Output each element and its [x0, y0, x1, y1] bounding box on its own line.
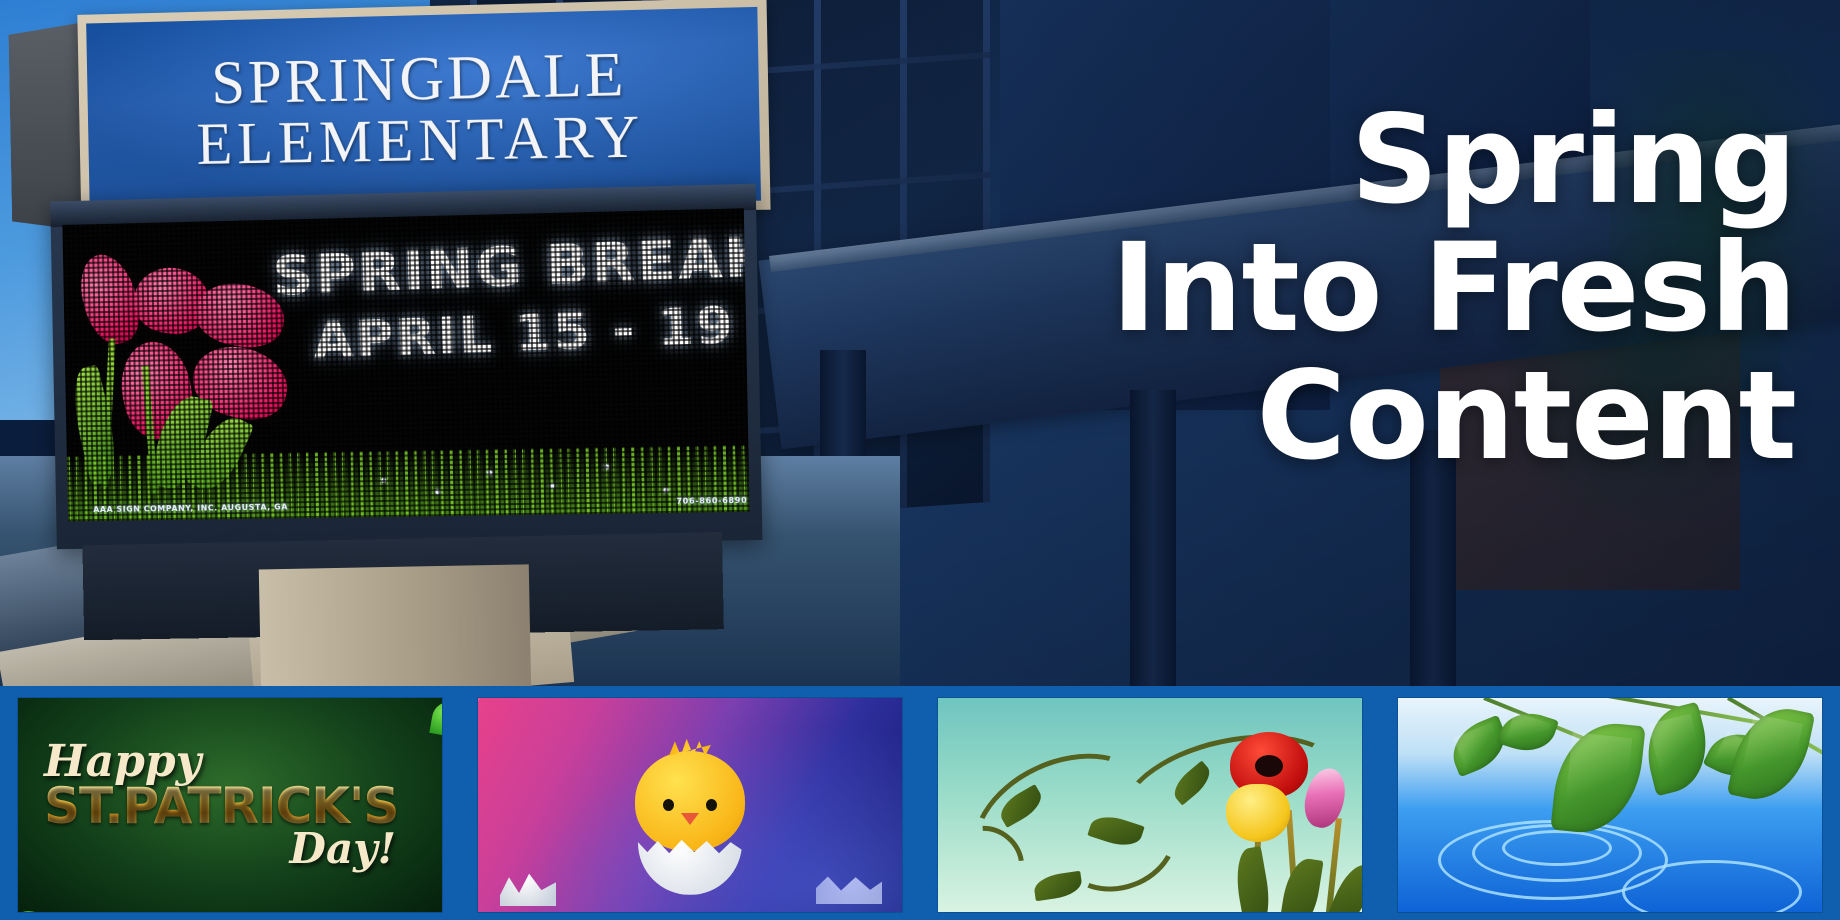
- led-message-line2: APRIL 15 - 19: [312, 300, 735, 366]
- credit-company: AAA SIGN COMPANY, INC. AUGUSTA, GA: [93, 502, 288, 514]
- chick-illustration: [635, 751, 745, 851]
- thumbnail-item[interactable]: Happy ST.PATRICK'S Day!: [0, 686, 460, 920]
- hero-photo: SPRINGDALE ELEMENTARY: [0, 0, 1840, 686]
- headline-line-3: Content: [976, 352, 1796, 480]
- school-name-line2: ELEMENTARY: [196, 108, 645, 173]
- sign-masonry-post: [259, 564, 531, 686]
- stp-line-main: ST.PATRICK'S: [44, 783, 442, 829]
- thumbnail-strip: Happy ST.PATRICK'S Day!: [0, 686, 1840, 920]
- credit-phone: 706-860-6890: [676, 495, 747, 505]
- led-message: SPRING BREAK APRIL 15 - 19: [304, 231, 741, 366]
- headline-line-1: Spring: [976, 96, 1796, 224]
- banner-root: SPRINGDALE ELEMENTARY: [0, 0, 1840, 920]
- led-display-screen: SPRING BREAK APRIL 15 - 19 AAA SIGN COMP…: [62, 208, 749, 521]
- led-message-line1: SPRING BREAK: [272, 230, 750, 304]
- headline-line-2: Into Fresh: [976, 224, 1796, 352]
- egg-fragment-right: [816, 872, 882, 904]
- headline: Spring Into Fresh Content: [976, 96, 1796, 480]
- monument-sign: SPRINGDALE ELEMENTARY: [8, 0, 866, 639]
- egg-fragment-left: [500, 870, 556, 906]
- led-sign-cabinet: SPRING BREAK APRIL 15 - 19 AAA SIGN COMP…: [50, 184, 762, 550]
- thumbnail-item[interactable]: [920, 686, 1380, 920]
- stp-line-day: Day!: [290, 829, 396, 869]
- thumbnail-easter-chick[interactable]: [478, 698, 902, 912]
- thumbnail-item[interactable]: [460, 686, 920, 920]
- thumbnail-leaves-water[interactable]: [1398, 698, 1822, 912]
- thumbnail-st-patricks-day[interactable]: Happy ST.PATRICK'S Day!: [18, 698, 442, 912]
- thumbnail-spring-flourish[interactable]: [938, 698, 1362, 912]
- thumbnail-item[interactable]: [1380, 686, 1840, 920]
